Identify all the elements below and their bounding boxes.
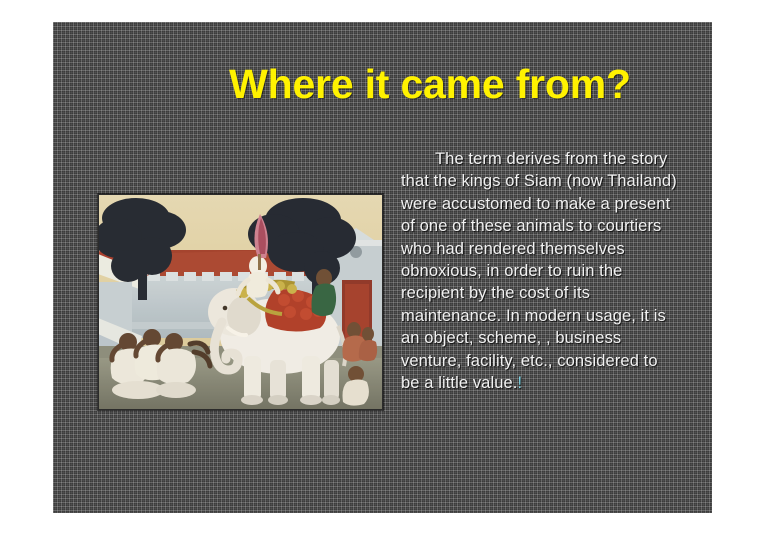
slide-canvas: Where it came from? [0, 0, 760, 537]
body-paragraph-text: The term derives from the story that the… [401, 150, 677, 392]
page-title: Where it came from? [180, 62, 680, 106]
white-elephant-illustration [98, 194, 383, 410]
white-elephant-image [98, 194, 383, 410]
trailing-accent-mark: ! [517, 374, 522, 392]
body-paragraph: The term derives from the story that the… [401, 148, 678, 394]
slide-content-area: Where it came from? [53, 22, 712, 513]
